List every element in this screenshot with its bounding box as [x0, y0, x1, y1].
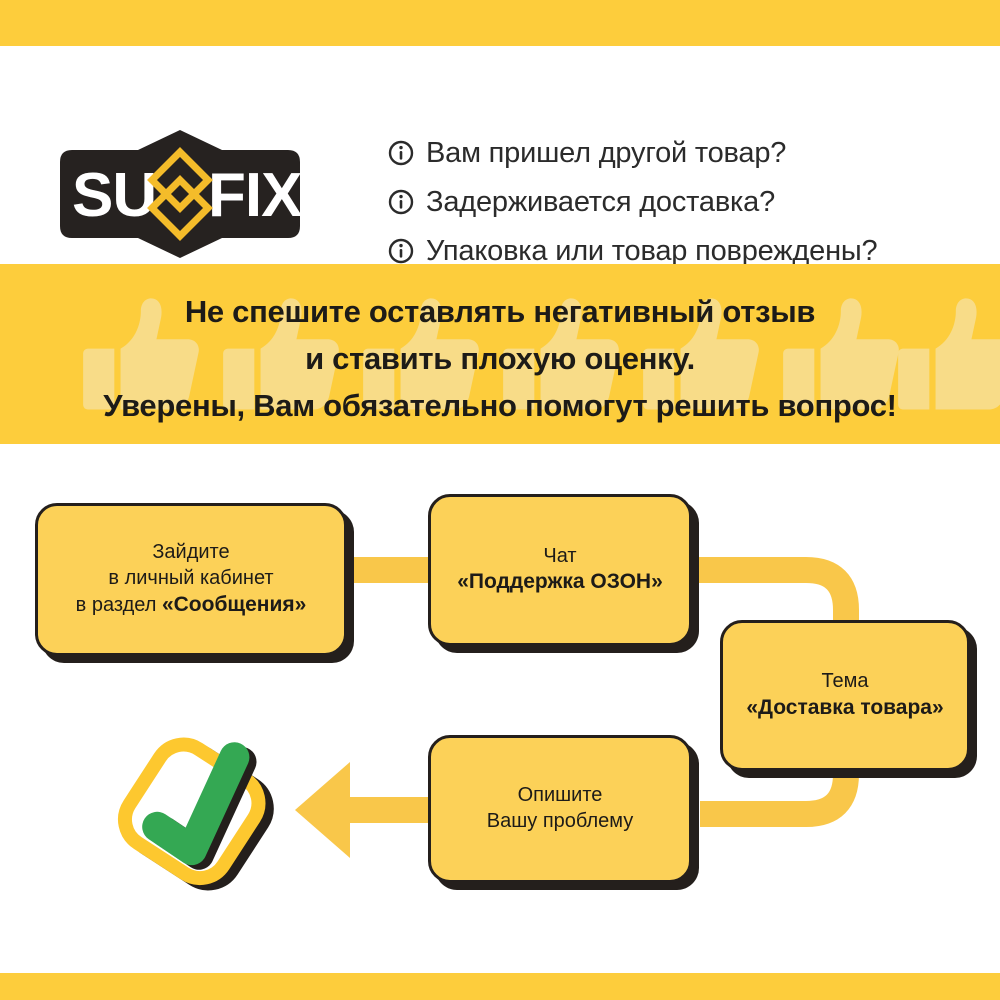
question-list: Вам пришел другой товар? Задерживается д…	[388, 134, 988, 281]
question-row: Задерживается доставка?	[388, 183, 988, 221]
advice-band: Не спешите оставлять негативный отзыв и …	[0, 264, 1000, 444]
flow-node-describe-line1: Опишите	[487, 783, 633, 809]
flow-node-describe[interactable]: Опишите Вашу проблему	[428, 735, 692, 883]
flow-node-theme[interactable]: Тема «Доставка товара»	[720, 620, 970, 771]
header-section: SU FIX	[0, 46, 1000, 264]
info-icon	[388, 140, 414, 166]
flow-node-messages-emphasis: «Сообщения»	[162, 593, 306, 616]
flowchart-section: Зайдите в личный кабинет в раздел «Сообщ…	[0, 444, 1000, 973]
question-text: Вам пришел другой товар?	[426, 139, 786, 168]
flow-node-theme-line1: Тема	[746, 669, 943, 695]
top-accent-bar	[0, 0, 1000, 46]
info-icon	[388, 189, 414, 215]
flow-node-describe-line2: Вашу проблему	[487, 809, 633, 835]
flow-node-messages-line2: в личный кабинет	[76, 566, 307, 592]
svg-text:FIX: FIX	[208, 161, 302, 230]
question-text: Задерживается доставка?	[426, 188, 775, 217]
flow-node-chat[interactable]: Чат «Поддержка ОЗОН»	[428, 494, 692, 646]
flow-node-messages[interactable]: Зайдите в личный кабинет в раздел «Сообщ…	[35, 503, 347, 656]
info-icon	[388, 238, 414, 264]
question-text: Упаковка или товар повреждены?	[426, 237, 877, 266]
advice-line-1: Не спешите оставлять негативный отзыв	[0, 288, 1000, 335]
arrow-left-icon	[295, 762, 435, 858]
question-row: Вам пришел другой товар?	[388, 134, 988, 172]
flow-node-chat-emphasis: «Поддержка ОЗОН»	[457, 570, 663, 593]
advice-line-2: и ставить плохую оценку.	[0, 335, 1000, 382]
flow-node-messages-line3-text: в раздел	[76, 594, 162, 616]
check-mark-icon	[108, 732, 288, 892]
svg-text:SU: SU	[72, 161, 156, 230]
sufix-logo: SU FIX	[40, 124, 320, 264]
poster-root: SU FIX	[0, 0, 1000, 1000]
advice-text: Не спешите оставлять негативный отзыв и …	[0, 288, 1000, 429]
flow-node-theme-emphasis: «Доставка товара»	[746, 696, 943, 719]
flow-node-messages-line3: в раздел «Сообщения»	[76, 592, 307, 619]
flow-node-chat-line1: Чат	[457, 544, 663, 570]
connector-messages-to-chat	[338, 557, 438, 583]
flow-node-messages-line1: Зайдите	[76, 540, 307, 566]
bottom-accent-bar	[0, 973, 1000, 1000]
advice-line-3: Уверены, Вам обязательно помогут решить …	[0, 382, 1000, 429]
